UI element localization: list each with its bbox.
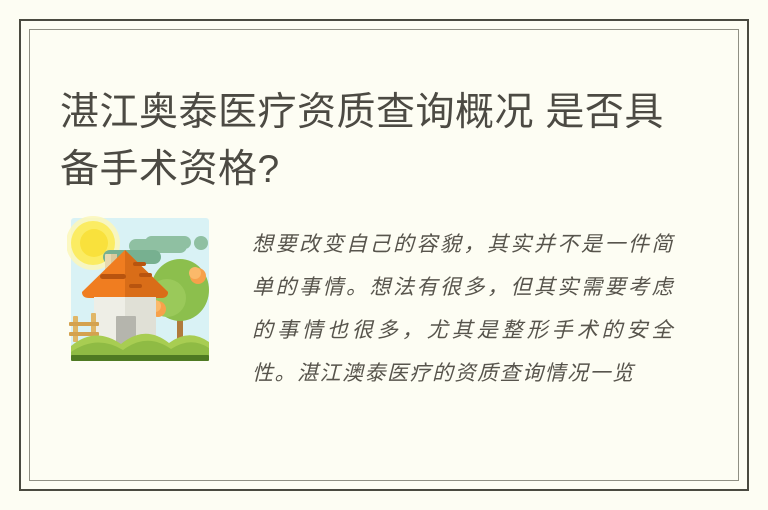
article-lede-paragraph: 想要改变自己的容貌，其实并不是一件简单的事情。想法有很多，但其实需要考虑的事情也…	[252, 223, 674, 395]
page-root: 湛江奥泰医疗资质查询概况 是否具备手术资格?	[0, 0, 768, 510]
article-thumbnail	[67, 212, 213, 368]
article-content: 湛江奥泰医疗资质查询概况 是否具备手术资格?	[30, 30, 738, 480]
article-frame-inner: 湛江奥泰医疗资质查询概况 是否具备手术资格?	[29, 29, 739, 481]
page-title: 湛江奥泰医疗资质查询概况 是否具备手术资格?	[60, 84, 690, 198]
article-body: 想要改变自己的容貌，其实并不是一件简单的事情。想法有很多，但其实需要考虑的事情也…	[58, 202, 718, 442]
house-landscape-illustration	[67, 212, 213, 368]
article-frame-outer: 湛江奥泰医疗资质查询概况 是否具备手术资格?	[19, 19, 749, 491]
